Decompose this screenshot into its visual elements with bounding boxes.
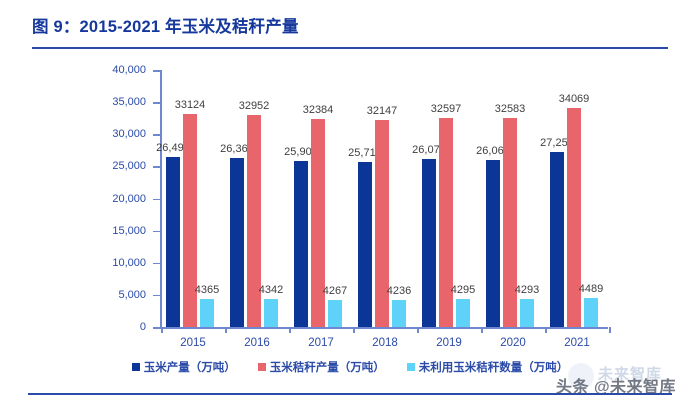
bar-group: 26,067325834293 (481, 70, 545, 327)
x-axis-tick-label: 2016 (225, 337, 289, 349)
x-axis-tick (353, 327, 355, 333)
bar-value-label: 4365 (195, 284, 219, 296)
bar-group: 26,078325974295 (417, 70, 481, 327)
bar-chart: 05,00010,00015,00020,00025,00030,00035,0… (0, 58, 700, 393)
header-divider (32, 47, 668, 49)
figure-header: 图 9：2015-2021 年玉米及秸秆产量 (0, 0, 700, 58)
bar-2-2021[interactable] (584, 298, 598, 327)
legend-item-2[interactable]: 未利用玉米秸秆数量（万吨） (407, 359, 569, 375)
y-axis-tick (153, 263, 161, 265)
bar-group: 25,717321474236 (353, 70, 417, 327)
y-axis-tick-label-text: 30,000 (88, 128, 146, 140)
x-axis-tick (225, 327, 227, 333)
y-axis-tick-label-text: 25,000 (88, 160, 146, 172)
bar-group: 25,907323844267 (289, 70, 353, 327)
bar-value-label: 32384 (303, 104, 334, 116)
bar-value-label: 4295 (451, 284, 475, 296)
bar-value-label: 32583 (495, 103, 526, 115)
y-axis-tick (153, 295, 161, 297)
y-axis-tick (153, 231, 161, 233)
y-axis-tick-label-text: 20,000 (88, 193, 146, 205)
x-axis-tick (161, 327, 163, 333)
y-axis-tick (153, 134, 161, 136)
legend-item-0[interactable]: 玉米产量（万吨） (132, 359, 236, 375)
bar-0-2017[interactable] (294, 161, 308, 327)
y-axis-tick (153, 102, 161, 104)
bar-2-2019[interactable] (456, 299, 470, 327)
x-axis-tick-label: 2020 (481, 337, 545, 349)
bar-2-2017[interactable] (328, 300, 342, 327)
bar-value-label: 32147 (367, 105, 398, 117)
bar-0-2020[interactable] (486, 160, 500, 327)
bar-value-label: 4489 (579, 283, 603, 295)
x-axis-tick-label: 2015 (161, 337, 225, 349)
bar-0-2019[interactable] (422, 159, 436, 327)
y-axis-tick-label-text: 35,000 (88, 96, 146, 108)
x-axis-tick-label: 2019 (417, 337, 481, 349)
legend-swatch-icon (258, 363, 266, 371)
bar-group: 26,499331244365 (161, 70, 225, 327)
legend-label: 玉米产量（万吨） (144, 359, 236, 375)
x-axis-tick (289, 327, 291, 333)
x-axis-tick-label: 2021 (545, 337, 609, 349)
x-axis-tick-label: 2018 (353, 337, 417, 349)
x-axis-line (160, 327, 608, 329)
bar-value-label: 4236 (387, 285, 411, 297)
y-axis-tick (153, 166, 161, 168)
chart-legend: 玉米产量（万吨）玉米秸秆产量（万吨）未利用玉米秸秆数量（万吨） (0, 356, 700, 378)
y-axis-tick (153, 70, 161, 72)
legend-label: 未利用玉米秸秆数量（万吨） (419, 359, 569, 375)
bar-value-label: 4267 (323, 285, 347, 297)
bar-value-label: 32952 (239, 100, 270, 112)
x-axis-tick (417, 327, 419, 333)
bar-value-label: 32597 (431, 103, 462, 115)
bar-2-2018[interactable] (392, 300, 406, 327)
legend-swatch-icon (407, 363, 415, 371)
x-axis-tick (545, 327, 547, 333)
bar-group: 26,361329524342 (225, 70, 289, 327)
bar-0-2018[interactable] (358, 162, 372, 327)
bar-2-2015[interactable] (200, 299, 214, 327)
legend-item-1[interactable]: 玉米秸秆产量（万吨） (258, 359, 385, 375)
y-axis-tick (153, 327, 161, 329)
bar-0-2015[interactable] (166, 157, 180, 327)
plot-area: 26,49933124436526,36132952434225,9073238… (161, 70, 607, 327)
y-axis-tick-label-text: 5,000 (88, 289, 146, 301)
y-axis-tick-label-text: 10,000 (88, 257, 146, 269)
bar-value-label: 4342 (259, 284, 283, 296)
footer-divider (28, 393, 672, 395)
bar-2-2020[interactable] (520, 299, 534, 327)
y-axis-tick-label-text: 15,000 (88, 225, 146, 237)
legend-label: 玉米秸秆产量（万吨） (270, 359, 385, 375)
bar-group: 27,255340694489 (545, 70, 609, 327)
x-axis-tick-label: 2017 (289, 337, 353, 349)
x-axis-tick (609, 327, 611, 333)
x-axis-tick (481, 327, 483, 333)
bar-0-2016[interactable] (230, 158, 244, 327)
y-axis-tick-label-text: 40,000 (88, 64, 146, 76)
bar-value-label: 4293 (515, 284, 539, 296)
bar-value-label: 34069 (559, 93, 590, 105)
y-axis-tick-label-text: 0 (88, 321, 146, 333)
bar-0-2021[interactable] (550, 152, 564, 327)
page-title: 图 9：2015-2021 年玉米及秸秆产量 (32, 13, 299, 37)
bar-2-2016[interactable] (264, 299, 278, 327)
y-axis-tick (153, 199, 161, 201)
legend-swatch-icon (132, 363, 140, 371)
bar-value-label: 33124 (175, 99, 206, 111)
